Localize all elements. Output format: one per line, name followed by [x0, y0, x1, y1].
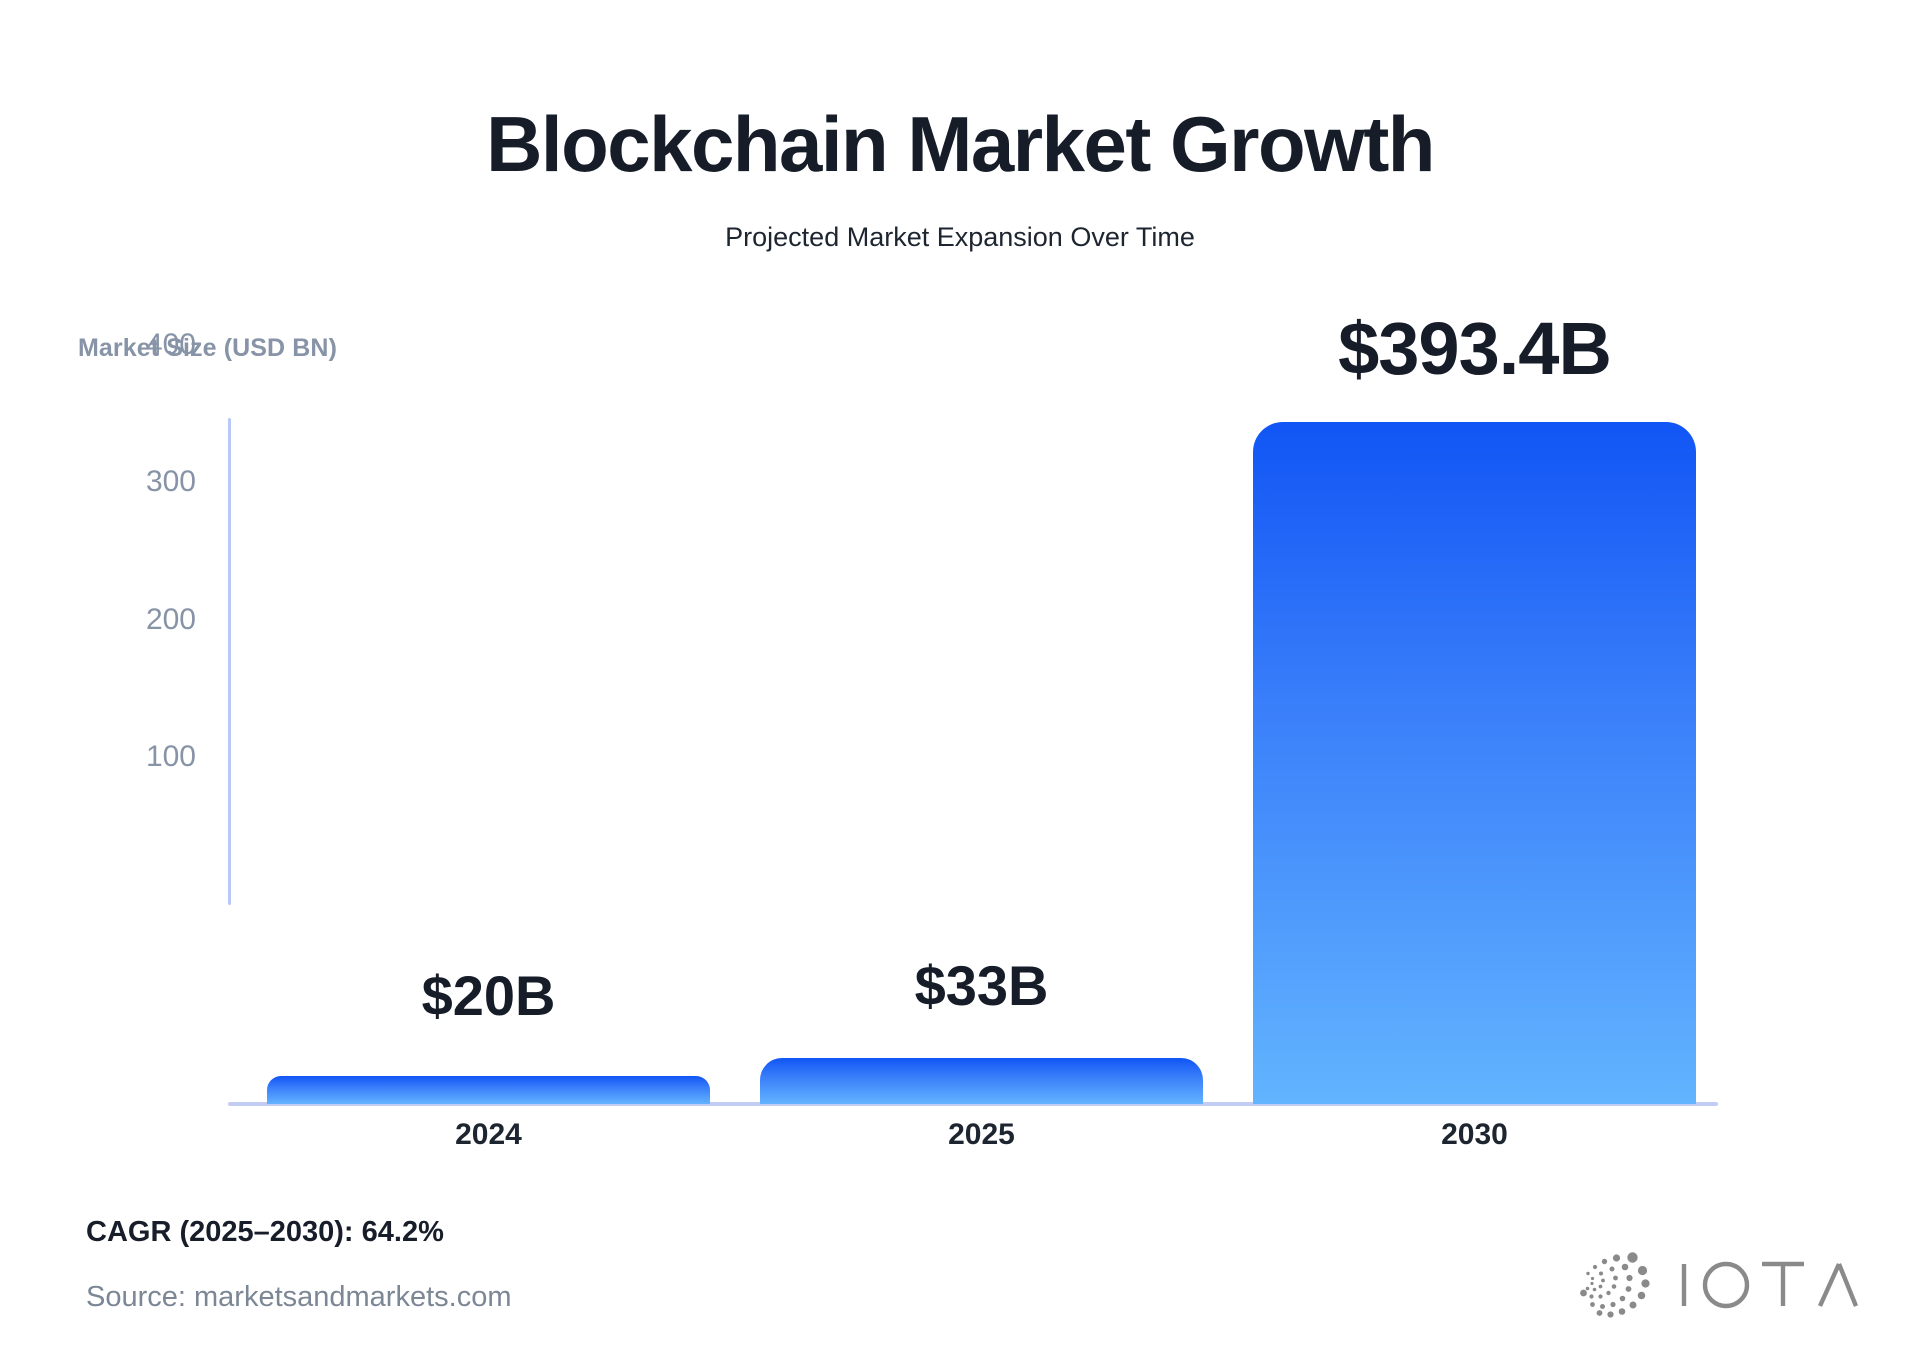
bar-2030[interactable]: [1253, 422, 1696, 1104]
x-category-label-2024: 2024: [267, 1120, 710, 1150]
x-category-label-2025: 2025: [760, 1120, 1203, 1150]
chart-canvas: Blockchain Market Growth Projected Marke…: [0, 0, 1920, 1364]
brand-logo: [1570, 1248, 1858, 1322]
bar-value-2025: $33B: [760, 958, 1203, 1014]
iota-dotted-swirl-icon: [1570, 1248, 1656, 1322]
bar-2025[interactable]: [760, 1058, 1203, 1104]
iota-wordmark: [1678, 1258, 1858, 1312]
x-category-label-2030: 2030: [1253, 1120, 1696, 1150]
bar-value-2024: $20B: [267, 968, 710, 1024]
cagr-annotation: CAGR (2025–2030): 64.2%: [86, 1218, 444, 1247]
plot-area: Market Size (USD BN) 400 300 200 100 $20…: [0, 0, 1920, 1364]
bar-value-2030: $393.4B: [1223, 312, 1726, 386]
bars-layer: [0, 0, 1920, 1104]
source-annotation: Source: marketsandmarkets.com: [86, 1283, 511, 1312]
bar-2024[interactable]: [267, 1076, 710, 1104]
